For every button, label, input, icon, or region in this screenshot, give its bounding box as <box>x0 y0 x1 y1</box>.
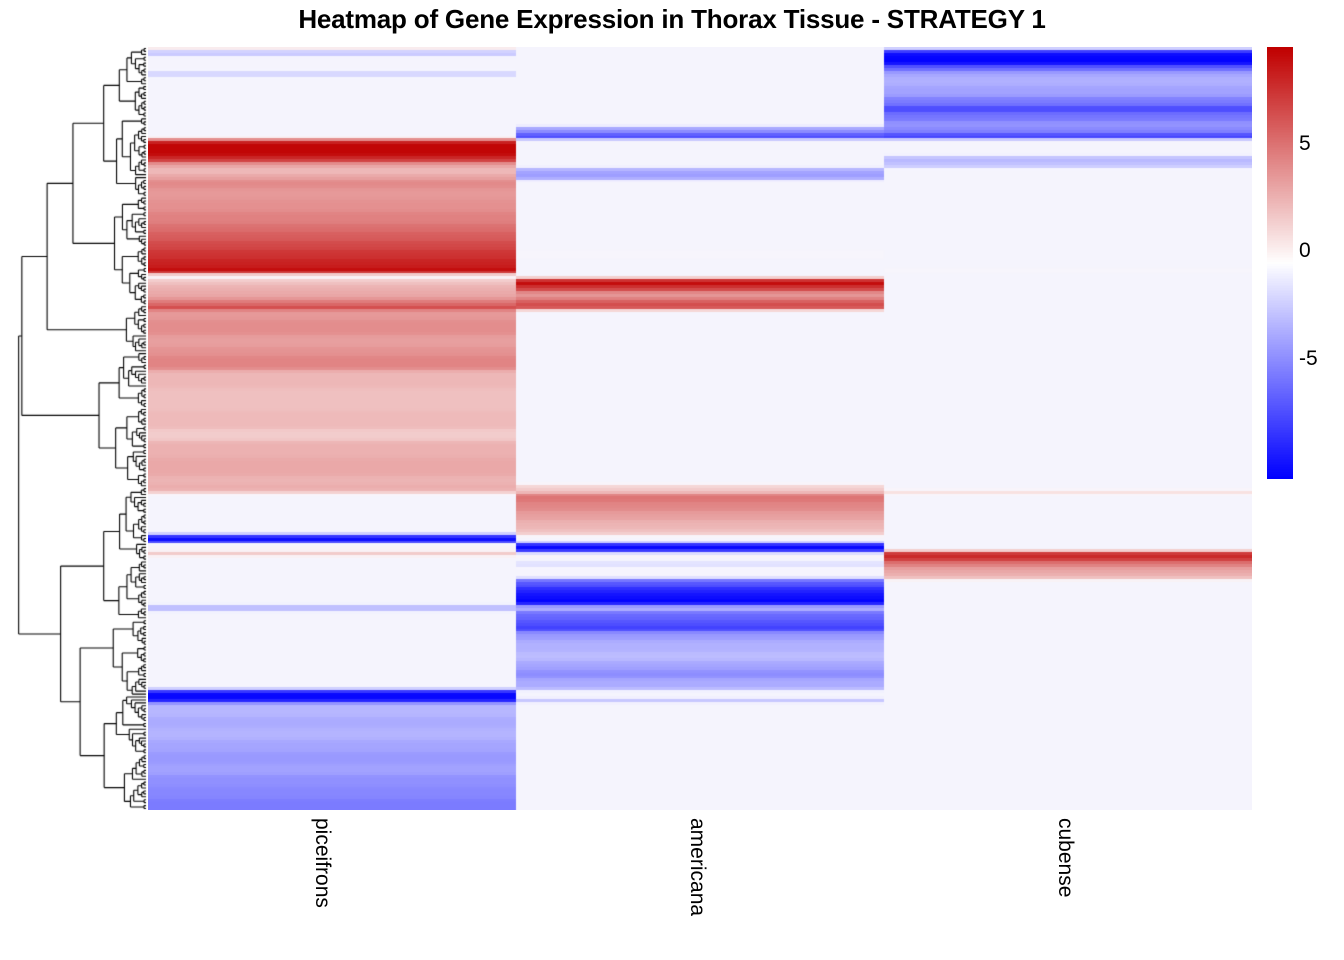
colorbar-gradient <box>1267 47 1293 479</box>
row-dendrogram <box>0 47 148 810</box>
heatmap-grid <box>148 47 1252 810</box>
colorbar-tick-minus5: -5 <box>1299 348 1318 369</box>
heatmap-figure: Heatmap of Gene Expression in Thorax Tis… <box>0 0 1344 960</box>
colorbar-tick-0: 0 <box>1299 240 1311 261</box>
xtick-label-piceifrons: piceifrons <box>310 818 334 908</box>
colorbar-tick-5: 5 <box>1299 133 1311 154</box>
xtick-label-cubense: cubense <box>1053 818 1077 897</box>
xtick-label-americana: americana <box>685 818 709 916</box>
page-title: Heatmap of Gene Expression in Thorax Tis… <box>0 4 1344 35</box>
